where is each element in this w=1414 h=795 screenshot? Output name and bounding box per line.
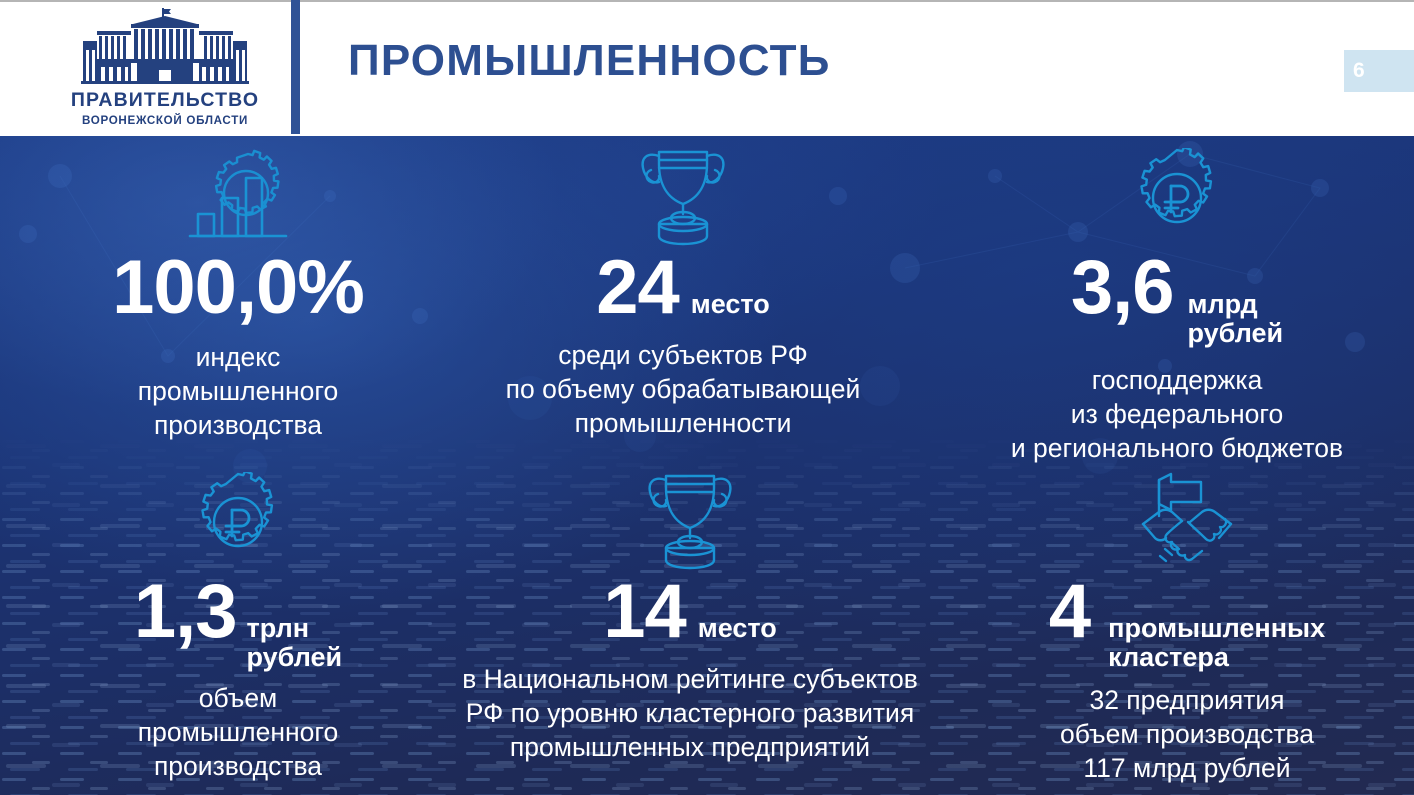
stat-unit: место — [691, 290, 770, 319]
stat-caption: объем промышленного производства — [48, 682, 428, 784]
stat-value: 100,0% — [112, 252, 364, 323]
stat-unit: место — [698, 614, 777, 643]
logo-text-secondary: ВОРОНЕЖСКОЙ ОБЛАСТИ — [82, 115, 248, 127]
trophy-icon — [448, 144, 918, 248]
stat-card-manufacturing-rank: 24 место среди субъектов РФ по объему об… — [448, 144, 918, 441]
government-building-icon — [75, 8, 255, 90]
stat-unit: млрд рублей — [1188, 290, 1284, 348]
page-title: ПРОМЫШЛЕННОСТЬ — [348, 36, 831, 86]
stat-figure: 3,6 млрд рублей — [952, 252, 1402, 348]
stat-value: 1,3 — [134, 576, 237, 647]
gear-ruble-icon — [48, 468, 428, 572]
stat-figure: 4 промышленных кластера — [972, 576, 1402, 672]
page-number-badge: 6 — [1344, 50, 1414, 92]
stat-card-production-volume: 1,3 трлн рублей объем промышленного прои… — [48, 468, 428, 784]
stat-value: 14 — [603, 576, 686, 647]
stat-card-cluster-rank: 14 место в Национальном рейтинге субъект… — [420, 468, 960, 765]
stat-value: 3,6 — [1071, 252, 1174, 323]
stat-unit: трлн рублей — [247, 614, 343, 672]
government-logo: ПРАВИТЕЛЬСТВО ВОРОНЕЖСКОЙ ОБЛАСТИ — [50, 8, 280, 130]
stat-figure: 100,0% — [48, 252, 428, 323]
header-top-rule — [0, 0, 1414, 2]
handshake-flag-icon — [972, 468, 1402, 572]
stat-value: 4 — [1049, 576, 1090, 647]
stat-value: 24 — [596, 252, 679, 323]
stat-caption: 32 предприятия объем производства 117 мл… — [972, 684, 1402, 786]
gear-bar-chart-icon — [48, 144, 428, 248]
stat-caption: в Национальном рейтинге субъектов РФ по … — [420, 663, 960, 765]
stat-caption: господдержка из федерального и региональ… — [952, 364, 1402, 466]
stat-unit: промышленных кластера — [1108, 614, 1325, 672]
header-vertical-divider — [291, 0, 300, 134]
stat-caption: среди субъектов РФ по объему обрабатываю… — [448, 339, 918, 441]
trophy-icon — [420, 468, 960, 572]
stat-card-industrial-clusters: 4 промышленных кластера 32 предприятия о… — [972, 468, 1402, 786]
stats-grid: 100,0% индекс промышленного производства — [0, 136, 1414, 795]
stat-caption: индекс промышленного производства — [48, 341, 428, 443]
slide-header: ПРАВИТЕЛЬСТВО ВОРОНЕЖСКОЙ ОБЛАСТИ ПРОМЫШ… — [0, 0, 1414, 136]
stat-card-industrial-index: 100,0% индекс промышленного производства — [48, 144, 428, 443]
stat-card-state-support: 3,6 млрд рублей господдержка из федераль… — [952, 144, 1402, 466]
logo-text-primary: ПРАВИТЕЛЬСТВО — [71, 91, 259, 111]
slide-root: 100,0% индекс промышленного производства — [0, 0, 1414, 795]
gear-ruble-icon — [952, 144, 1402, 248]
stat-figure: 1,3 трлн рублей — [48, 576, 428, 672]
stat-figure: 24 место — [448, 252, 918, 323]
stat-figure: 14 место — [420, 576, 960, 647]
